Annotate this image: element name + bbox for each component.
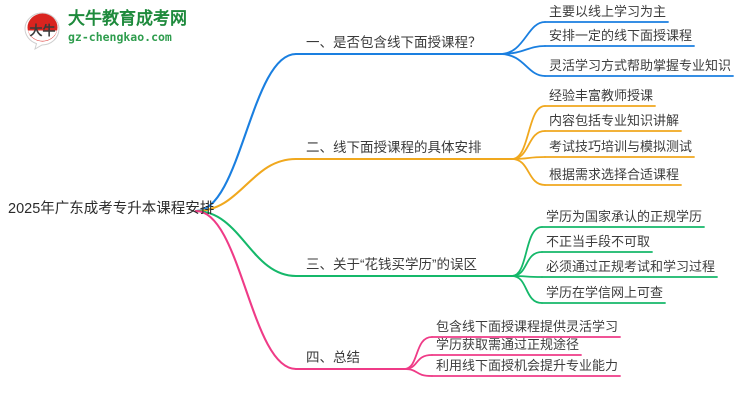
- leaf-label-2-4: 根据需求选择合适课程: [549, 166, 679, 183]
- leaf-label-1-1: 主要以线上学习为主: [549, 3, 666, 20]
- branch-label-4: 四、总结: [306, 349, 360, 366]
- branch-label-3: 三、关于“花钱买学历”的误区: [306, 256, 477, 273]
- branch-label-1: 一、是否包含线下面授课程？: [306, 34, 482, 51]
- connector-curve: [404, 355, 432, 369]
- connector-curve: [196, 211, 296, 369]
- leaf-label-3-4: 学历在学信网上可查: [546, 284, 663, 301]
- mindmap-canvas: 大牛 大牛教育成考网 gz-chengkao.com 2025年广东成考专升本课…: [0, 0, 750, 410]
- leaf-label-2-3: 考试技巧培训与模拟测试: [549, 138, 692, 155]
- svg-text:大牛: 大牛: [29, 23, 55, 38]
- connector-curve: [404, 369, 432, 376]
- connector-curve: [512, 276, 542, 303]
- leaf-label-4-2: 学历获取需通过正规途径: [436, 336, 579, 353]
- leaf-label-3-2: 不正当手段不可取: [546, 233, 650, 250]
- leaf-label-3-3: 必须通过正规考试和学习过程: [546, 258, 715, 275]
- logo-name-cn: 大牛教育成考网: [68, 8, 192, 30]
- connector-curve: [500, 54, 545, 76]
- connector-curve: [512, 252, 542, 276]
- branch-label-2: 二、线下面授课程的具体安排: [306, 139, 482, 156]
- leaf-label-1-2: 安排一定的线下面授课程: [549, 27, 692, 44]
- leaf-label-3-1: 学历为国家承认的正规学历: [546, 208, 702, 225]
- connector-curve: [512, 227, 542, 276]
- connector-curve: [196, 211, 296, 276]
- leaf-label-1-3: 灵活学习方式帮助掌握专业知识: [549, 57, 731, 74]
- leaf-label-2-2: 内容包括专业知识讲解: [549, 112, 679, 129]
- connector-curve: [512, 159, 545, 185]
- site-logo: 大牛 大牛教育成考网 gz-chengkao.com: [22, 8, 192, 52]
- connector-curve: [196, 54, 296, 211]
- logo-name-en: gz-chengkao.com: [68, 30, 192, 45]
- connector-curve: [500, 22, 545, 54]
- connector-curve: [404, 337, 432, 369]
- leaf-label-2-1: 经验丰富教师授课: [549, 87, 653, 104]
- leaf-label-4-3: 利用线下面授机会提升专业能力: [436, 357, 618, 374]
- daniu-bubble-icon: 大牛: [22, 10, 64, 50]
- root-node-label: 2025年广东成考专升本课程安排: [8, 201, 214, 218]
- leaf-label-4-1: 包含线下面授课程提供灵活学习: [436, 318, 618, 335]
